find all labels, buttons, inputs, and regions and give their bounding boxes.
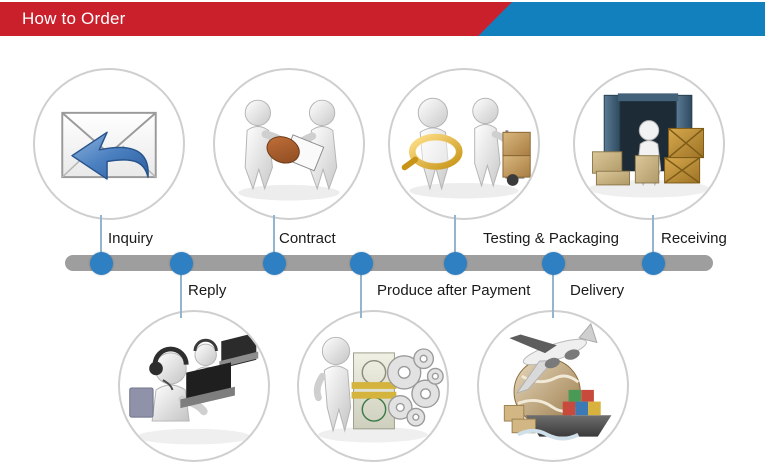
step-circle-receiving <box>573 68 725 220</box>
timeline-dot-reply[interactable] <box>170 252 193 275</box>
timeline-dot-inquiry[interactable] <box>90 252 113 275</box>
step-circle-delivery <box>477 310 629 462</box>
call-center-icon <box>130 333 259 445</box>
step-label-testing: Testing & Packaging <box>483 230 619 248</box>
header-banner: How to Order <box>0 2 777 36</box>
inspect-package-icon <box>405 98 531 198</box>
handshake-contract-icon <box>238 100 339 200</box>
timeline-dot-contract[interactable] <box>263 252 286 275</box>
step-label-reply: Reply <box>188 282 226 300</box>
page-title: How to Order <box>22 2 126 36</box>
money-gears-icon <box>317 337 443 442</box>
timeline-bar <box>65 255 713 271</box>
step-label-receiving: Receiving <box>661 230 727 248</box>
envelope-reply-icon <box>62 113 155 179</box>
how-to-order-infographic: How to Order <box>0 0 777 476</box>
timeline-dot-delivery[interactable] <box>542 252 565 275</box>
step-label-delivery: Delivery <box>570 282 624 300</box>
timeline-dot-produce[interactable] <box>350 252 373 275</box>
step-circle-contract <box>213 68 365 220</box>
timeline-dot-testing[interactable] <box>444 252 467 275</box>
step-label-contract: Contract <box>279 230 336 248</box>
plane-ship-globe-icon <box>500 313 611 439</box>
step-circle-testing-packaging <box>388 68 540 220</box>
timeline-dot-receiving[interactable] <box>642 252 665 275</box>
step-label-inquiry: Inquiry <box>108 230 153 248</box>
step-circle-inquiry <box>33 68 185 220</box>
step-circle-reply <box>118 310 270 462</box>
step-label-produce: Produce after Payment <box>377 282 530 300</box>
step-circle-produce-after-payment <box>297 310 449 462</box>
shipping-container-icon <box>589 93 710 197</box>
